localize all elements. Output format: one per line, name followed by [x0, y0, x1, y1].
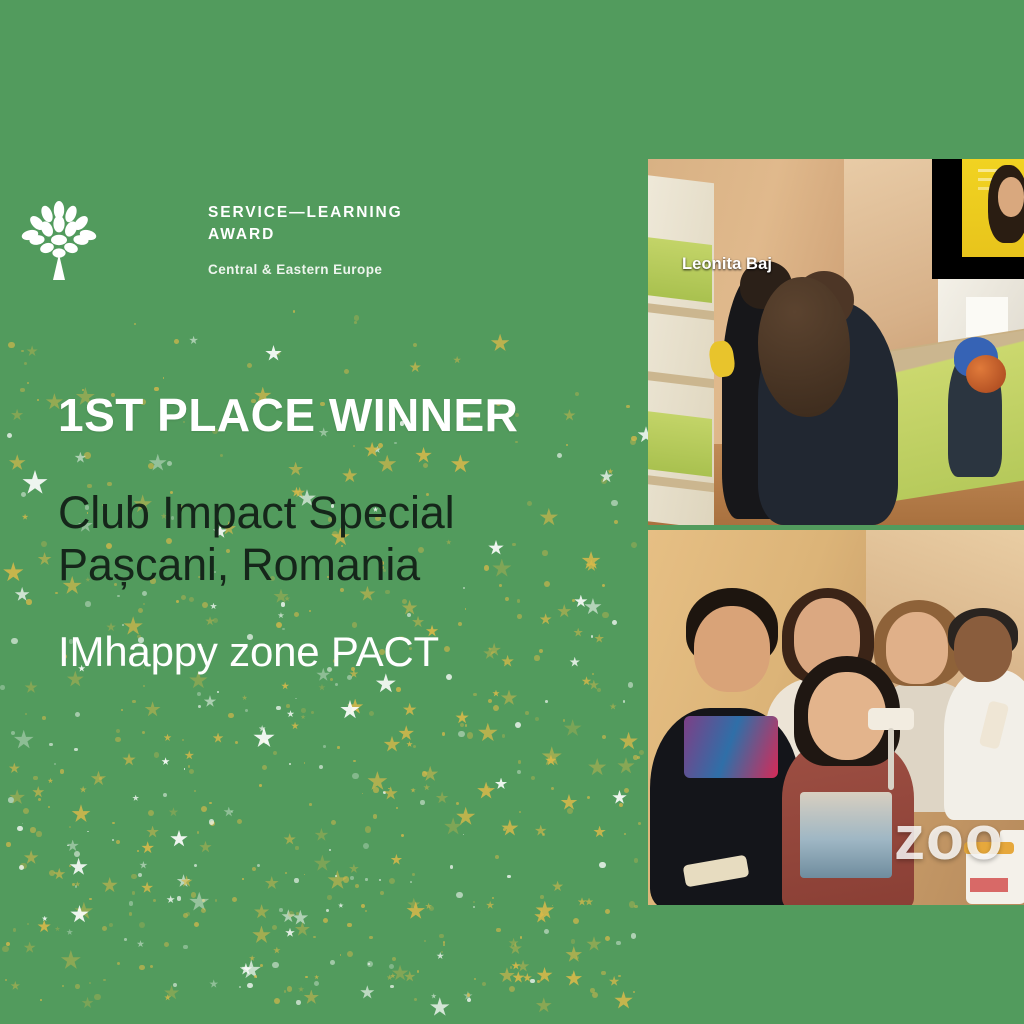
- dot-sparkle: [24, 362, 27, 365]
- dot-sparkle: [340, 954, 342, 956]
- dot-sparkle: [131, 874, 136, 879]
- star-sparkle: [477, 782, 496, 801]
- star-sparkle: [508, 938, 518, 948]
- dot-sparkle: [173, 983, 177, 987]
- star-sparkle: [213, 733, 224, 744]
- star-sparkle: [539, 508, 558, 527]
- dot-sparkle: [637, 756, 640, 759]
- dot-sparkle: [463, 834, 465, 836]
- star-sparkle: [32, 786, 44, 798]
- star-sparkle: [586, 936, 602, 952]
- dot-sparkle: [304, 762, 306, 764]
- dot-sparkle: [289, 763, 292, 766]
- dot-sparkle: [612, 620, 617, 625]
- dot-sparkle: [74, 851, 80, 857]
- dot-sparkle: [26, 599, 32, 605]
- dot-sparkle: [618, 975, 621, 978]
- dot-sparkle: [353, 445, 355, 447]
- dot-sparkle: [37, 399, 39, 401]
- dot-sparkle: [247, 983, 253, 989]
- dot-sparkle: [272, 925, 277, 930]
- paint-roller-handle: [888, 728, 894, 790]
- dot-sparkle: [467, 993, 471, 997]
- dot-sparkle: [602, 584, 605, 587]
- dot-sparkle: [231, 811, 233, 813]
- dot-sparkle: [361, 904, 365, 908]
- dot-sparkle: [262, 765, 267, 770]
- star-sparkle: [402, 600, 418, 616]
- dot-sparkle: [535, 717, 539, 721]
- dot-sparkle: [27, 382, 29, 384]
- star-sparkle: [574, 595, 588, 609]
- dot-sparkle: [473, 901, 475, 903]
- dot-sparkle: [616, 941, 620, 945]
- star-sparkle: [536, 967, 553, 984]
- dot-sparkle: [592, 992, 598, 998]
- dot-sparkle: [69, 865, 72, 868]
- star-sparkle: [71, 804, 90, 823]
- star-sparkle: [391, 854, 403, 866]
- dot-sparkle: [309, 610, 311, 612]
- dot-sparkle: [36, 831, 41, 836]
- dot-sparkle: [176, 600, 179, 603]
- star-sparkle: [146, 826, 159, 839]
- participant-face: [998, 177, 1024, 217]
- dot-sparkle: [286, 704, 290, 708]
- star-sparkle: [101, 877, 118, 894]
- dot-sparkle: [575, 392, 580, 397]
- star-sparkle: [412, 616, 425, 629]
- dot-sparkle: [394, 442, 397, 445]
- dot-sparkle: [323, 745, 326, 748]
- dot-sparkle: [379, 879, 382, 882]
- star-sparkle: [619, 732, 638, 751]
- brand-text-block: SERVICE—LEARNING AWARD Central & Eastern…: [208, 202, 403, 277]
- star-sparkle: [15, 587, 30, 602]
- dot-sparkle: [544, 929, 549, 934]
- dot-sparkle: [138, 873, 142, 877]
- star-sparkle: [132, 795, 139, 802]
- star-sparkle: [55, 926, 61, 932]
- star-sparkle: [184, 750, 194, 760]
- dot-sparkle: [202, 899, 205, 902]
- dot-sparkle: [60, 769, 65, 774]
- star-sparkle: [141, 882, 153, 894]
- main-video-top[interactable]: Leonita Baj: [648, 159, 1024, 525]
- star-sparkle: [347, 699, 364, 716]
- dot-sparkle: [252, 867, 257, 872]
- star-sparkle: [585, 559, 598, 572]
- dot-sparkle: [423, 463, 428, 468]
- star-sparkle: [565, 946, 582, 963]
- star-sparkle: [164, 985, 180, 1001]
- dot-sparkle: [48, 806, 50, 808]
- dot-sparkle: [23, 808, 29, 814]
- star-sparkle: [582, 676, 592, 686]
- dot-sparkle: [296, 912, 299, 915]
- dot-sparkle: [396, 807, 398, 809]
- dot-sparkle: [183, 913, 188, 918]
- star-sparkle: [278, 612, 285, 619]
- dot-sparkle: [143, 685, 145, 687]
- star-sparkle: [137, 940, 145, 948]
- dot-sparkle: [373, 814, 378, 819]
- dot-sparkle: [301, 708, 306, 713]
- dot-sparkle: [139, 965, 145, 971]
- dot-sparkle: [473, 906, 475, 908]
- star-sparkle: [91, 771, 107, 787]
- star-sparkle: [398, 725, 414, 741]
- dot-sparkle: [142, 591, 147, 596]
- dot-sparkle: [154, 752, 160, 758]
- dot-sparkle: [55, 592, 58, 595]
- zoom-watermark: zoo: [894, 808, 1004, 870]
- dot-sparkle: [563, 719, 565, 721]
- star-sparkle: [600, 470, 614, 484]
- star-sparkle: [612, 790, 627, 805]
- dot-sparkle: [599, 862, 605, 868]
- dot-sparkle: [295, 846, 298, 849]
- dot-sparkle: [245, 709, 248, 712]
- dot-sparkle: [21, 350, 23, 352]
- star-sparkle: [53, 868, 66, 881]
- dot-sparkle: [326, 909, 329, 912]
- dot-sparkle: [121, 709, 123, 711]
- dot-sparkle: [247, 363, 252, 368]
- dot-sparkle: [288, 911, 294, 917]
- star-sparkle: [431, 993, 437, 999]
- dot-sparkle: [368, 963, 370, 965]
- star-sparkle: [303, 990, 319, 1006]
- video-panel-column: Leonita Baj: [648, 159, 1024, 905]
- dot-sparkle: [134, 323, 136, 325]
- dot-sparkle: [103, 979, 106, 982]
- dot-sparkle: [272, 962, 278, 968]
- dot-sparkle: [605, 909, 610, 914]
- dot-sparkle: [542, 550, 548, 556]
- star-sparkle: [407, 898, 421, 912]
- dot-sparkle: [388, 788, 390, 790]
- dot-sparkle: [631, 933, 636, 938]
- dot-sparkle: [517, 599, 521, 603]
- dot-sparkle: [189, 597, 194, 602]
- star-sparkle: [403, 703, 417, 717]
- dot-sparkle: [597, 688, 601, 692]
- dot-sparkle: [17, 826, 23, 832]
- main-video-bottom[interactable]: zoo: [648, 530, 1024, 905]
- dot-sparkle: [309, 803, 312, 806]
- winner-organization: Club Impact Special Pașcani, Romania: [58, 487, 454, 591]
- star-sparkle: [69, 858, 88, 877]
- dot-sparkle: [467, 732, 473, 738]
- dot-sparkle: [209, 802, 212, 805]
- dot-sparkle: [624, 833, 626, 835]
- dot-sparkle: [396, 687, 401, 692]
- dot-sparkle: [148, 463, 154, 469]
- dot-sparkle: [143, 603, 145, 605]
- star-sparkle: [284, 595, 290, 601]
- participant-inset-tile[interactable]: [932, 159, 1024, 279]
- star-sparkle: [199, 841, 212, 854]
- dot-sparkle: [11, 638, 17, 644]
- dot-sparkle: [129, 912, 132, 915]
- star-sparkle: [10, 981, 20, 991]
- dot-sparkle: [484, 565, 490, 571]
- star-sparkle: [24, 681, 37, 694]
- star-sparkle: [535, 901, 554, 920]
- shelving-unit: [648, 175, 714, 525]
- dot-sparkle: [75, 712, 80, 717]
- dot-sparkle: [619, 803, 623, 807]
- star-sparkle: [241, 960, 261, 980]
- dot-sparkle: [443, 944, 445, 946]
- dot-sparkle: [153, 899, 156, 902]
- dot-sparkle: [2, 946, 9, 953]
- dot-sparkle: [242, 878, 244, 880]
- star-sparkle: [617, 757, 635, 775]
- dot-sparkle: [602, 735, 606, 739]
- dot-sparkle: [456, 802, 459, 805]
- dot-sparkle: [49, 743, 53, 747]
- dot-sparkle: [124, 938, 127, 941]
- dot-sparkle: [631, 542, 637, 548]
- dot-sparkle: [313, 936, 316, 939]
- star-sparkle: [318, 684, 325, 691]
- dot-sparkle: [638, 822, 641, 825]
- dot-sparkle: [566, 444, 568, 446]
- dot-sparkle: [305, 976, 308, 979]
- person-head: [954, 616, 1012, 682]
- dot-sparkle: [611, 500, 617, 506]
- star-sparkle: [584, 598, 602, 616]
- paint-bucket-label: [970, 878, 1008, 892]
- dot-sparkle: [517, 770, 522, 775]
- dot-sparkle: [369, 936, 373, 940]
- star-sparkle: [540, 613, 552, 625]
- star-sparkle: [511, 961, 520, 970]
- dot-sparkle: [186, 912, 190, 916]
- star-sparkle: [425, 903, 432, 910]
- dot-sparkle: [11, 731, 15, 735]
- star-sparkle: [42, 916, 48, 922]
- star-sparkle: [492, 690, 500, 698]
- dot-sparkle: [129, 901, 134, 906]
- dot-sparkle: [319, 765, 323, 769]
- star-sparkle: [144, 701, 160, 717]
- dot-sparkle: [347, 675, 352, 680]
- dot-sparkle: [191, 892, 196, 897]
- dot-sparkle: [458, 622, 462, 626]
- inset-letterbox-bar: [932, 159, 962, 279]
- dot-sparkle: [520, 936, 523, 939]
- star-sparkle: [376, 673, 397, 694]
- dot-sparkle: [237, 819, 242, 824]
- dot-sparkle: [197, 692, 201, 696]
- dot-sparkle: [254, 975, 258, 979]
- star-sparkle: [74, 902, 93, 921]
- dot-sparkle: [201, 806, 207, 812]
- star-sparkle: [342, 468, 358, 484]
- dot-sparkle: [109, 923, 113, 927]
- star-sparkle: [563, 719, 582, 738]
- star-sparkle: [488, 540, 504, 556]
- star-sparkle: [478, 723, 498, 743]
- dot-sparkle: [132, 700, 136, 704]
- dot-sparkle: [446, 674, 452, 680]
- scene-object-ball: [966, 355, 1006, 393]
- dot-sparkle: [517, 614, 522, 619]
- dot-sparkle: [150, 965, 153, 968]
- dot-sparkle: [335, 875, 337, 877]
- star-sparkle: [9, 454, 26, 471]
- dot-sparkle: [496, 928, 501, 933]
- dot-sparkle: [188, 765, 191, 768]
- dot-sparkle: [279, 908, 283, 912]
- star-sparkle: [410, 788, 416, 794]
- star-sparkle: [581, 551, 601, 571]
- dot-sparkle: [284, 990, 287, 993]
- star-sparkle: [240, 963, 253, 976]
- dot-sparkle: [442, 732, 446, 736]
- star-sparkle: [275, 350, 281, 356]
- dot-sparkle: [401, 834, 404, 837]
- dot-sparkle: [213, 618, 218, 623]
- dot-sparkle: [194, 790, 196, 792]
- dot-sparkle: [626, 405, 630, 409]
- dot-sparkle: [545, 700, 548, 703]
- dot-sparkle: [42, 716, 46, 720]
- dot-sparkle: [94, 994, 100, 1000]
- dot-sparkle: [540, 895, 544, 899]
- dot-sparkle: [7, 433, 12, 438]
- star-sparkle: [189, 336, 198, 345]
- dot-sparkle: [274, 998, 280, 1004]
- dot-sparkle: [67, 845, 69, 847]
- dot-sparkle: [473, 693, 477, 697]
- star-sparkle: [288, 462, 303, 477]
- dot-sparkle: [276, 622, 282, 628]
- star-sparkle: [495, 778, 508, 791]
- dot-sparkle: [527, 501, 532, 506]
- dot-sparkle: [389, 878, 395, 884]
- dot-sparkle: [352, 773, 358, 779]
- dot-sparkle: [407, 613, 411, 617]
- dot-sparkle: [474, 978, 476, 980]
- star-sparkle: [383, 736, 400, 753]
- dot-sparkle: [624, 788, 629, 793]
- dot-sparkle: [13, 928, 17, 932]
- star-sparkle: [373, 446, 381, 454]
- dot-sparkle: [209, 819, 215, 825]
- dot-sparkle: [163, 377, 165, 379]
- dot-sparkle: [628, 682, 634, 688]
- dot-sparkle: [534, 655, 539, 660]
- star-sparkle: [295, 922, 311, 938]
- star-sparkle: [589, 680, 600, 691]
- star-sparkle: [340, 700, 360, 720]
- dot-sparkle: [380, 891, 384, 895]
- dot-sparkle: [116, 840, 120, 844]
- dot-sparkle: [344, 369, 349, 374]
- dot-sparkle: [85, 601, 91, 607]
- dot-sparkle: [424, 940, 426, 942]
- star-sparkle: [161, 757, 169, 765]
- dot-sparkle: [89, 982, 91, 984]
- dot-sparkle: [182, 739, 184, 741]
- dot-sparkle: [499, 584, 502, 587]
- dot-sparkle: [365, 878, 367, 880]
- dot-sparkle: [605, 936, 610, 941]
- shelf-board: [648, 474, 714, 492]
- shelf-panel-green: [648, 410, 712, 477]
- star-sparkle: [491, 334, 510, 353]
- dot-sparkle: [273, 751, 277, 755]
- dot-sparkle: [197, 831, 200, 834]
- star-sparkle: [287, 710, 295, 718]
- star-sparkle: [70, 905, 89, 924]
- scene-paper-note: [966, 297, 1008, 337]
- star-sparkle: [75, 881, 81, 887]
- dot-sparkle: [602, 612, 609, 619]
- dot-sparkle: [623, 700, 626, 703]
- dot-sparkle: [5, 979, 7, 981]
- dot-sparkle: [530, 979, 534, 983]
- star-sparkle: [314, 975, 319, 980]
- star-sparkle: [430, 997, 450, 1017]
- star-sparkle: [81, 997, 93, 1009]
- shirt-graphic: [800, 792, 892, 878]
- star-sparkle: [66, 840, 79, 853]
- dot-sparkle: [27, 923, 29, 925]
- star-sparkle: [487, 643, 501, 657]
- dot-sparkle: [194, 864, 197, 867]
- dot-sparkle: [542, 833, 545, 836]
- star-sparkle: [205, 616, 215, 626]
- brand-block: SERVICE—LEARNING AWARD Central & Eastern…: [20, 196, 620, 296]
- star-sparkle: [378, 455, 397, 474]
- dot-sparkle: [390, 985, 394, 989]
- dot-sparkle: [573, 918, 579, 924]
- dot-sparkle: [38, 798, 41, 801]
- award-name-label: SERVICE—LEARNING AWARD: [208, 202, 403, 246]
- star-sparkle: [609, 976, 620, 987]
- star-sparkle: [177, 874, 191, 888]
- star-sparkle: [367, 771, 388, 792]
- dot-sparkle: [84, 452, 91, 459]
- dot-sparkle: [633, 755, 638, 760]
- star-sparkle: [14, 730, 35, 751]
- dot-sparkle: [365, 910, 367, 912]
- dot-sparkle: [492, 897, 494, 899]
- star-sparkle: [364, 442, 380, 458]
- star-sparkle: [292, 910, 308, 926]
- star-sparkle: [415, 447, 432, 464]
- star-sparkle: [501, 655, 514, 668]
- star-sparkle: [24, 942, 36, 954]
- dot-sparkle: [323, 918, 328, 923]
- dot-sparkle: [591, 635, 594, 638]
- dot-sparkle: [62, 985, 64, 987]
- star-sparkle: [80, 786, 87, 793]
- star-sparkle: [48, 778, 54, 784]
- dot-sparkle: [228, 713, 233, 718]
- dot-sparkle: [330, 678, 333, 681]
- star-sparkle: [209, 979, 218, 988]
- dot-sparkle: [335, 683, 338, 686]
- star-sparkle: [327, 870, 348, 891]
- dot-sparkle: [488, 699, 492, 703]
- person-head: [886, 612, 948, 684]
